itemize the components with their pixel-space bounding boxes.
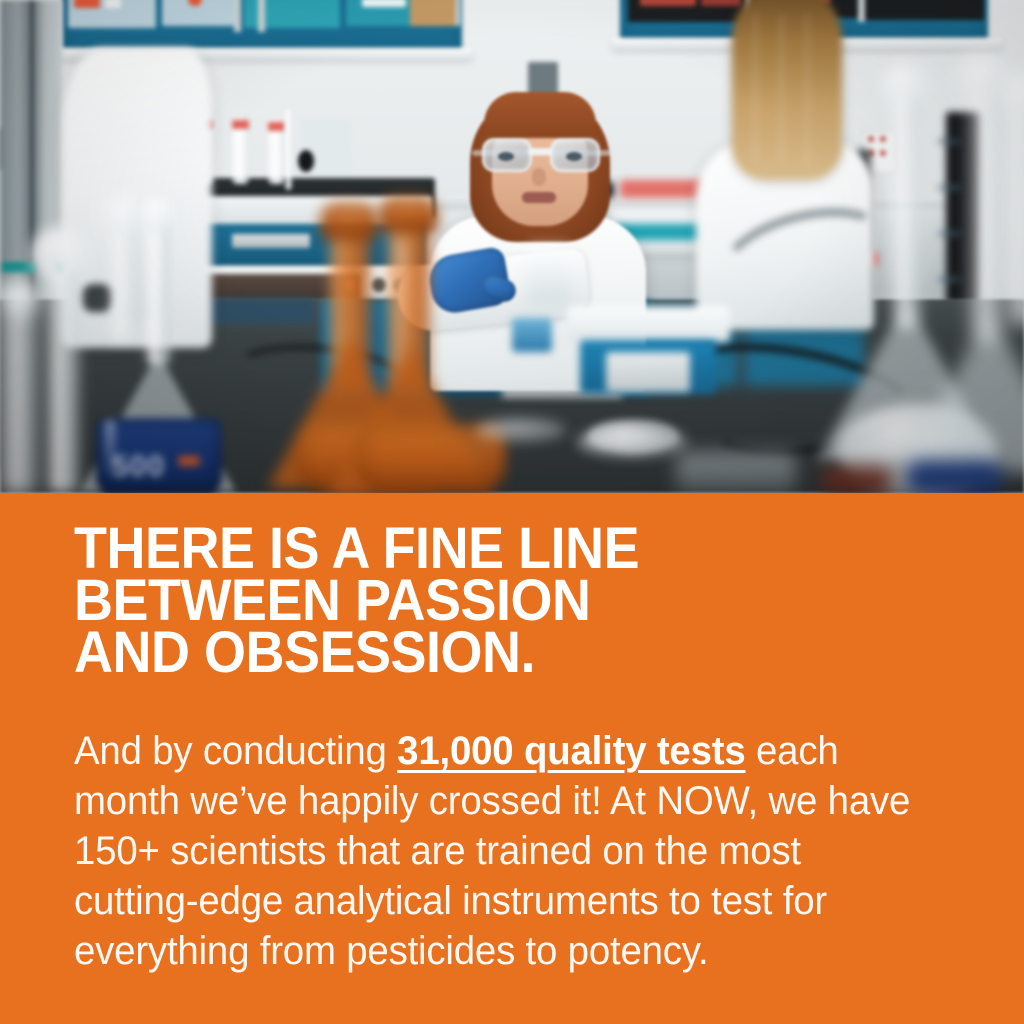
orange-text-panel: THERE IS A FINE LINE BETWEEN PASSION AND… — [0, 493, 1024, 1024]
balance-top-plate — [566, 306, 730, 342]
background-scientist-right — [690, 0, 880, 320]
safety-goggles — [480, 136, 600, 170]
upper-cabinet-left — [62, 0, 462, 50]
body-copy: And by conducting 31,000 quality tests e… — [74, 726, 919, 976]
rack-post-right — [285, 110, 292, 190]
flask-volume-label: 500 — [112, 450, 165, 484]
petri-dish-right — [578, 428, 686, 456]
blue-cap-bottle-1 — [512, 318, 552, 352]
social-graphic-canvas: 500 — [0, 0, 1024, 1024]
clear-bottle-behind — [528, 246, 570, 304]
glass-dish-center — [476, 418, 566, 442]
page-headline: THERE IS A FINE LINE BETWEEN PASSION AND… — [74, 523, 892, 679]
flask-amber-liquid-right — [822, 468, 892, 493]
body-copy-before: And by conducting — [74, 729, 397, 773]
laboratory-photo: 500 — [0, 0, 1024, 493]
flask-blue-liquid-right — [906, 460, 1002, 493]
rack-clamp-right — [298, 150, 314, 172]
balance-display — [606, 352, 690, 392]
glass-item-bottom-center — [676, 452, 796, 493]
photo-scene: 500 — [0, 0, 1024, 493]
quality-tests-stat: 31,000 quality tests — [397, 729, 745, 773]
